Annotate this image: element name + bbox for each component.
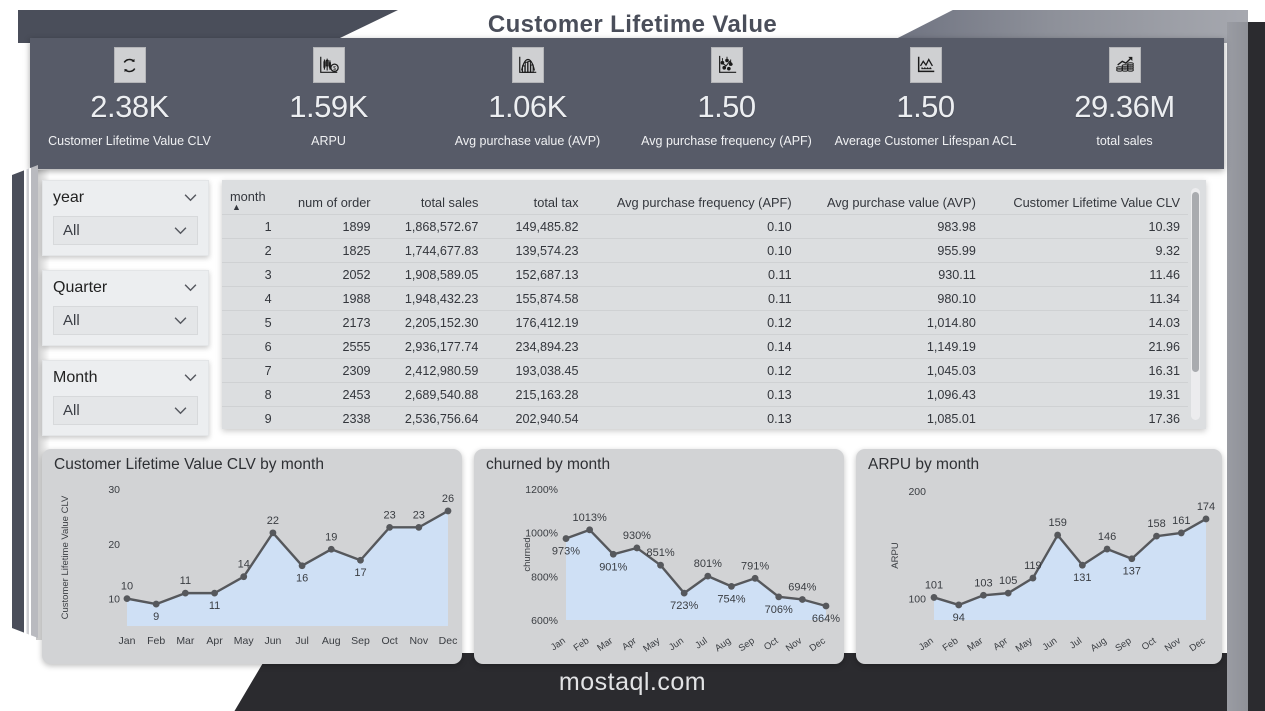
slicer-value: All [63,312,80,329]
table-row[interactable]: 218251,744,677.83139,574.230.10955.999.3… [222,239,1188,263]
kpi-label: Avg purchase frequency (APF) [641,134,812,148]
slicer-month[interactable]: MonthAll [42,360,209,436]
table-cell: 983.98 [800,215,984,239]
table-cell: 8 [222,383,280,407]
table-row[interactable]: 521732,205,152.30176,412.190.121,014.801… [222,311,1188,335]
column-header-3[interactable]: total tax [486,180,586,215]
table-cell: 1,948,432.23 [379,287,487,311]
chart-data-label: 11 [180,575,191,587]
chart-data-label: 17 [354,567,366,579]
page-title: Customer Lifetime Value [0,11,1265,39]
chart-data-label: 11 [209,600,220,612]
y-axis-title: churned [522,537,533,571]
table-scrollbar-thumb[interactable] [1192,192,1199,372]
chart-data-point [1178,530,1185,537]
x-axis-tick-label: Aug [713,635,733,654]
chart-data-point [681,590,688,597]
y-axis-tick-label: 20 [108,539,120,551]
x-axis-tick-label: Sep [737,635,757,654]
table-cell: 215,163.28 [486,383,586,407]
x-axis-tick-label: Jun [264,635,281,647]
slicer-header: Quarter [53,279,198,297]
chart-data-point [657,562,664,569]
x-axis-tick-label: May [641,635,662,654]
svg-text:$: $ [333,66,336,72]
chart-data-label: 9 [153,611,159,623]
table-cell: 955.99 [800,239,984,263]
table-cell: 1,868,572.67 [379,215,487,239]
chart-data-label: 930% [623,530,651,542]
chart-data-label: 706% [765,604,793,616]
slicer-header: Month [53,369,198,387]
kpi-panel: 2.38KCustomer Lifetime Value CLV$1.59KAR… [30,38,1224,169]
table-cell: 1988 [280,287,379,311]
data-table-card[interactable]: month▲num of ordertotal salestotal taxAv… [222,180,1206,429]
chart-data-label: 973% [552,546,580,558]
scatter-network-icon [711,47,743,83]
table-cell: 193,038.45 [486,359,586,383]
slicer-title: Month [53,369,97,387]
table-header-row: month▲num of ordertotal salestotal taxAv… [222,180,1188,215]
chart-data-label: 23 [413,509,425,521]
chart-data-point [1203,516,1210,523]
table-cell: 149,485.82 [486,215,586,239]
line-chart-icon [910,47,942,83]
chart-data-point [211,590,218,597]
chart-data-label: 801% [694,558,722,570]
table-row[interactable]: 723092,412,980.59193,038.450.121,045.031… [222,359,1188,383]
chart-data-label: 23 [384,509,396,521]
chart-data-point [415,524,422,531]
x-axis-tick-label: Feb [147,635,165,647]
x-axis-tick-label: May [234,635,255,647]
y-axis-tick-label: 600% [531,615,558,627]
chart-data-label: 119 [1024,560,1042,572]
chart-data-point [586,526,593,533]
table-cell: 2555 [280,335,379,359]
kpi-card-6: 29.36Mtotal sales [1025,38,1224,169]
data-table: month▲num of ordertotal salestotal taxAv… [222,180,1188,429]
slicer-year[interactable]: yearAll [42,180,209,256]
chart-data-label: 754% [717,593,745,605]
x-axis-tick-label: Jun [1040,635,1059,653]
x-axis-tick-label: Dec [1188,635,1208,654]
table-cell: 21.96 [984,335,1188,359]
table-cell: 2309 [280,359,379,383]
chart-svg-arpu: 100200ARPU101941031051191591311461371581… [856,449,1222,664]
table-cell: 139,574.23 [486,239,586,263]
y-axis-title: Customer Lifetime Value CLV [60,495,71,619]
table-cell: 0.14 [586,335,799,359]
table-cell: 2,412,980.59 [379,359,487,383]
chart-data-point [328,546,335,553]
slicer-value: All [63,222,80,239]
chart-data-point [955,602,962,609]
slicer-dropdown[interactable]: All [53,216,198,245]
table-cell: 2052 [280,263,379,287]
chart-data-point [563,535,570,542]
column-header-6[interactable]: Customer Lifetime Value CLV [984,180,1188,215]
x-axis-tick-label: Jun [667,635,686,653]
y-axis-tick-label: 10 [108,594,120,606]
table-cell: 5 [222,311,280,335]
chart-data-point [1104,546,1111,553]
x-axis-tick-label: May [1014,635,1035,654]
table-cell: 1,744,677.83 [379,239,487,263]
kpi-card-2: $1.59KARPU [229,38,428,169]
histogram-bellcurve-icon [512,47,544,83]
table-cell: 0.12 [586,359,799,383]
y-axis-tick-label: 100 [908,594,926,606]
column-header-0[interactable]: month▲ [222,180,280,215]
table-cell: 14.03 [984,311,1188,335]
slicer-title: Quarter [53,279,107,297]
chart-data-point [610,551,617,558]
column-header-2[interactable]: total sales [379,180,487,215]
slicer-value: All [63,402,80,419]
chevron-down-icon[interactable] [173,402,188,420]
y-axis-tick-label: 1200% [525,484,558,496]
table-cell: 0.13 [586,383,799,407]
chevron-down-icon[interactable] [183,369,198,387]
y-axis-tick-label: 800% [531,571,558,583]
slicer-title: year [53,189,84,207]
table-cell: 1,908,589.05 [379,263,487,287]
table-row[interactable]: 419881,948,432.23155,874.580.11980.1011.… [222,287,1188,311]
chart-card-churned[interactable]: churned by month 600%800%1000%1200%churn… [474,449,844,664]
table-row[interactable]: 625552,936,177.74234,894.230.141,149.192… [222,335,1188,359]
chevron-down-icon[interactable] [183,189,198,207]
kpi-row: 2.38KCustomer Lifetime Value CLV$1.59KAR… [30,38,1224,169]
table-cell: 2 [222,239,280,263]
kpi-label: Customer Lifetime Value CLV [48,134,211,148]
kpi-value: 2.38K [90,91,169,122]
sort-ascending-icon: ▲ [230,204,272,210]
chart-data-label: 16 [296,573,308,585]
chart-data-point [1153,533,1160,540]
kpi-value: 1.06K [488,91,567,122]
x-axis-tick-label: Mar [965,635,985,653]
chart-data-point [1054,532,1061,539]
kpi-label: total sales [1096,134,1152,148]
x-axis-tick-label: Jul [295,635,308,647]
x-axis-tick-label: Apr [620,635,638,652]
table-row[interactable]: 118991,868,572.67149,485.820.10983.9810.… [222,215,1188,239]
kpi-label: Avg purchase value (AVP) [455,134,600,148]
table-cell: 2,536,756.64 [379,407,487,430]
table-cell: 980.10 [800,287,984,311]
table-row[interactable]: 824532,689,540.88215,163.280.131,096.431… [222,383,1188,407]
table-cell: 1825 [280,239,379,263]
coins-growth-icon [1109,47,1141,83]
slicer-panel: yearAllQuarterAllMonthAll [42,180,209,450]
table-cell: 152,687.13 [486,263,586,287]
chart-data-point [728,583,735,590]
chart-data-point [823,603,830,610]
table-scrollbar[interactable] [1191,188,1200,420]
x-axis-tick-label: Sep [351,635,370,647]
left-ribbon-decoration [12,165,38,638]
kpi-card-3: 1.06KAvg purchase value (AVP) [428,38,627,169]
x-axis-tick-label: Feb [572,635,592,653]
x-axis-tick-label: Jan [119,635,136,647]
table-cell: 2338 [280,407,379,430]
table-cell: 4 [222,287,280,311]
right-rail-inner-decoration [1249,22,1265,711]
chart-data-label: 94 [953,612,965,624]
chart-data-label: 161 [1172,515,1190,527]
chart-data-label: 131 [1073,572,1091,584]
chart-data-label: 158 [1147,518,1165,530]
table-cell: 17.36 [984,407,1188,430]
chart-svg-clv: 102030Customer Lifetime Value CLV1091111… [42,449,462,664]
x-axis-tick-label: Nov [784,635,804,654]
chart-data-point [445,508,452,515]
chart-data-point [1005,590,1012,597]
x-axis-tick-label: Jan [549,635,568,653]
chart-data-label: 146 [1098,531,1116,543]
table-cell: 11.46 [984,263,1188,287]
x-axis-tick-label: Aug [322,635,341,647]
dashboard-canvas: Customer Lifetime Value 2.38KCustomer Li… [0,0,1265,711]
chart-card-arpu[interactable]: ARPU by month 100200ARPU1019410310511915… [856,449,1222,664]
candlestick-dollar-icon: $ [313,47,345,83]
table-cell: 16.31 [984,359,1188,383]
slicer-quarter[interactable]: QuarterAll [42,270,209,346]
refresh-cycle-icon [114,47,146,83]
table-cell: 0.10 [586,215,799,239]
chart-data-label: 664% [812,613,840,625]
table-cell: 0.10 [586,239,799,263]
watermark: mostaql.com [0,668,1265,697]
chart-data-point [1030,575,1037,582]
chart-data-point [1079,562,1086,569]
chart-data-label: 137 [1123,566,1141,578]
table-cell: 9 [222,407,280,430]
x-axis-tick-label: Nov [409,635,428,647]
chart-data-label: 22 [267,515,279,527]
x-axis-tick-label: Jan [917,635,936,653]
slicer-dropdown[interactable]: All [53,396,198,425]
table-cell: 6 [222,335,280,359]
chart-data-point [752,575,759,582]
column-header-4[interactable]: Avg purchase frequency (APF) [586,180,799,215]
kpi-card-5: 1.50Average Customer Lifespan ACL [826,38,1025,169]
table-row[interactable]: 320521,908,589.05152,687.130.11930.1111.… [222,263,1188,287]
x-axis-tick-label: Apr [991,635,1009,652]
chart-data-point [124,595,131,602]
x-axis-tick-label: Apr [206,635,223,647]
table-cell: 1 [222,215,280,239]
chart-data-label: 694% [788,581,816,593]
kpi-label: ARPU [311,134,346,148]
x-axis-tick-label: Mar [176,635,195,647]
table-cell: 2,205,152.30 [379,311,487,335]
x-axis-tick-label: Sep [1113,635,1133,654]
column-header-5[interactable]: Avg purchase value (AVP) [800,180,984,215]
chart-data-point [931,594,938,601]
chevron-down-icon[interactable] [183,279,198,297]
chart-data-label: 105 [999,575,1017,587]
chart-data-label: 851% [646,547,674,559]
chart-data-label: 901% [599,561,627,573]
column-header-1[interactable]: num of order [280,180,379,215]
chevron-down-icon[interactable] [173,312,188,330]
table-cell: 19.31 [984,383,1188,407]
kpi-value: 29.36M [1074,91,1174,122]
chart-data-label: 19 [325,531,337,543]
kpi-value: 1.50 [697,91,755,122]
table-cell: 2,689,540.88 [379,383,487,407]
x-axis-tick-label: Dec [439,635,458,647]
x-axis-tick-label: Oct [1140,635,1159,653]
x-axis-tick-label: Nov [1163,635,1183,654]
y-axis-tick-label: 30 [108,484,120,496]
chart-data-point [299,562,306,569]
table-cell: 10.39 [984,215,1188,239]
chart-card-clv[interactable]: Customer Lifetime Value CLV by month 102… [42,449,462,664]
table-cell: 202,940.54 [486,407,586,430]
x-axis-tick-label: Jul [1068,635,1084,651]
chart-data-point [704,573,711,580]
x-axis-tick-label: Mar [595,635,615,653]
table-cell: 11.34 [984,287,1188,311]
chart-data-label: 159 [1048,517,1066,529]
x-axis-tick-label: Dec [808,635,828,654]
table-cell: 1,149.19 [800,335,984,359]
chart-data-point [634,545,641,552]
table-cell: 3 [222,263,280,287]
table-cell: 1899 [280,215,379,239]
slicer-header: year [53,189,198,207]
x-axis-tick-label: Oct [381,635,397,647]
table-cell: 0.13 [586,407,799,430]
table-cell: 155,874.58 [486,287,586,311]
table-cell: 1,045.03 [800,359,984,383]
table-cell: 2173 [280,311,379,335]
chart-data-point [1128,555,1135,562]
chart-data-point [775,593,782,600]
kpi-card-4: 1.50Avg purchase frequency (APF) [627,38,826,169]
chart-svg-churned: 600%800%1000%1200%churned973%1013%901%93… [474,449,844,664]
chart-data-label: 1013% [573,512,607,524]
chart-data-point [182,590,189,597]
chart-data-label: 10 [121,581,133,593]
chart-data-point [980,592,987,599]
slicer-dropdown[interactable]: All [53,306,198,335]
kpi-value: 1.50 [896,91,954,122]
kpi-card-1: 2.38KCustomer Lifetime Value CLV [30,38,229,169]
x-axis-tick-label: Feb [941,635,961,653]
table-cell: 176,412.19 [486,311,586,335]
chart-data-label: 14 [238,559,250,571]
x-axis-tick-label: Aug [1089,635,1109,654]
table-cell: 0.11 [586,287,799,311]
table-cell: 234,894.23 [486,335,586,359]
table-row[interactable]: 923382,536,756.64202,940.540.131,085.011… [222,407,1188,430]
x-axis-tick-label: Jul [693,635,709,651]
chart-data-point [270,529,277,536]
y-axis-tick-label: 200 [908,486,926,498]
table-cell: 1,014.80 [800,311,984,335]
chart-data-point [799,596,806,603]
y-axis-title: ARPU [890,542,901,569]
kpi-label: Average Customer Lifespan ACL [835,134,1017,148]
chart-data-label: 174 [1197,501,1215,513]
chevron-down-icon[interactable] [173,222,188,240]
chart-data-point [357,557,364,564]
chart-data-label: 26 [442,493,454,505]
chart-data-point [153,601,160,608]
table-cell: 0.11 [586,263,799,287]
table-cell: 2453 [280,383,379,407]
chart-data-label: 723% [670,600,698,612]
table-cell: 9.32 [984,239,1188,263]
table-body: 118991,868,572.67149,485.820.10983.9810.… [222,215,1188,430]
kpi-value: 1.59K [289,91,368,122]
chart-data-point [240,573,247,580]
x-axis-tick-label: Oct [762,635,781,653]
chart-data-label: 103 [974,577,992,589]
table-cell: 0.12 [586,311,799,335]
table-cell: 2,936,177.74 [379,335,487,359]
chart-data-label: 791% [741,560,769,572]
chart-data-point [386,524,393,531]
chart-data-label: 101 [925,579,943,591]
table-cell: 1,096.43 [800,383,984,407]
table-cell: 1,085.01 [800,407,984,430]
table-cell: 7 [222,359,280,383]
table-cell: 930.11 [800,263,984,287]
